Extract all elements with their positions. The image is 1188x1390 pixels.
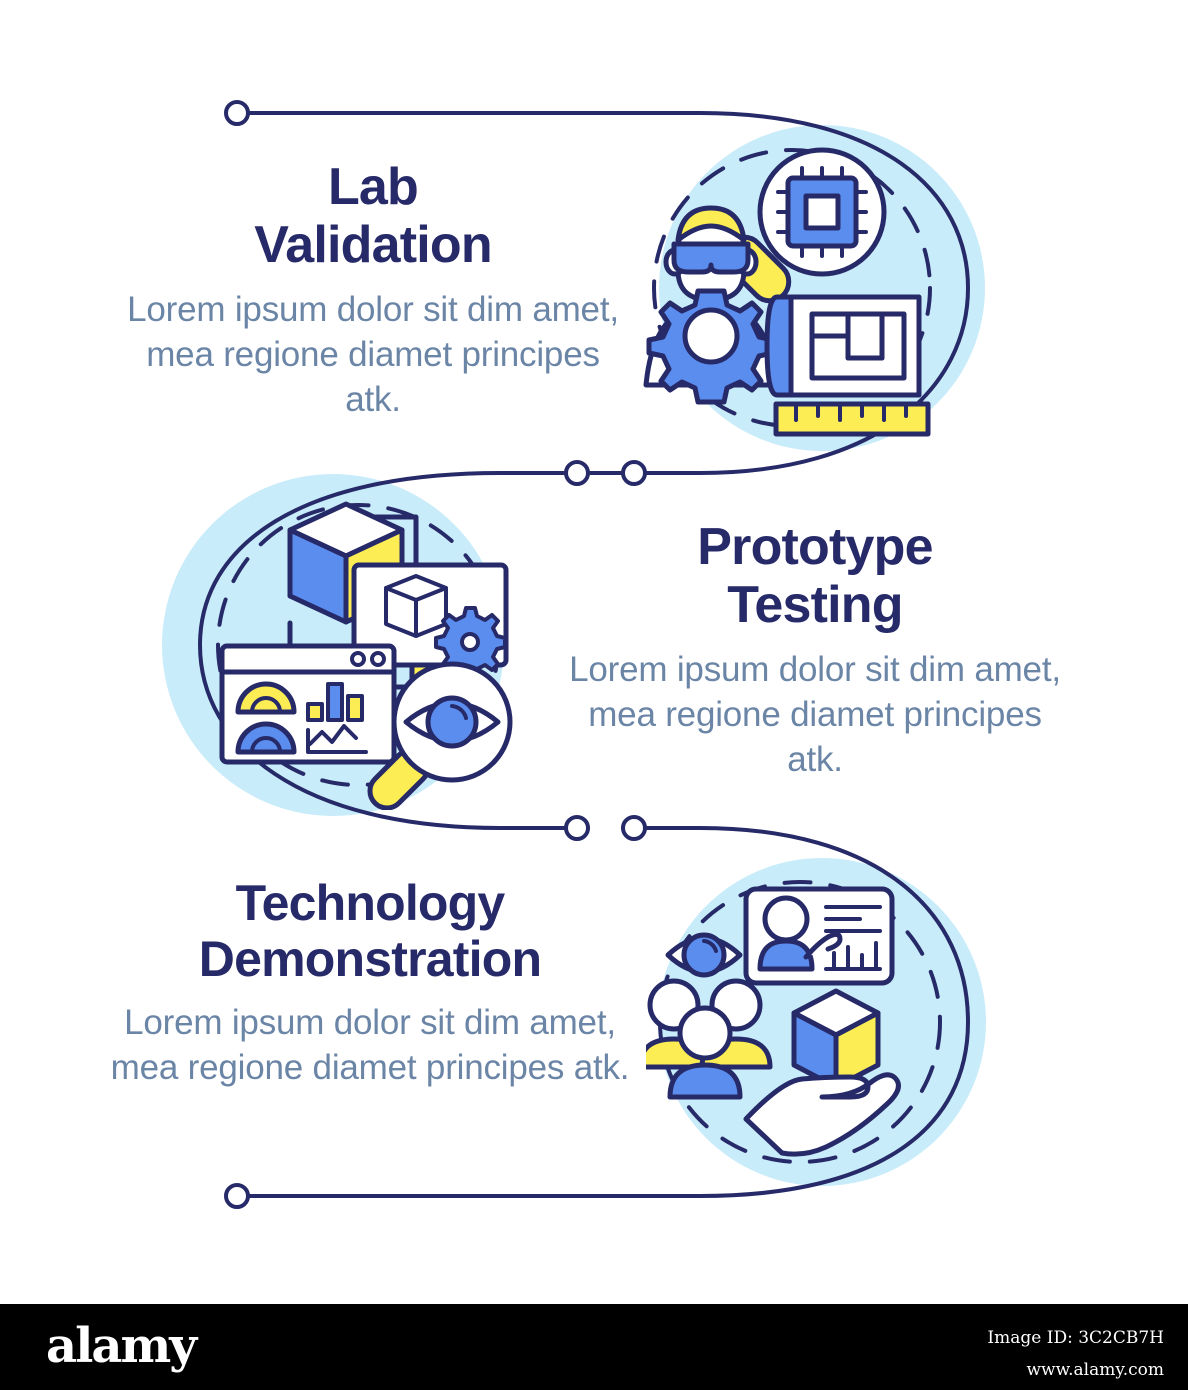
gear-icon — [649, 291, 773, 402]
engineer-with-goggles-icon — [666, 208, 756, 300]
flow-node-2-start — [623, 462, 645, 484]
page-title-technology-demonstration: Technology Demonstration — [110, 875, 630, 987]
flow-node-3-start — [623, 817, 645, 839]
flow-node-1-end — [566, 462, 588, 484]
flow-node-start — [226, 102, 248, 124]
body-text-lab-validation: Lorem ipsum dolor sit dim amet, mea regi… — [118, 288, 628, 422]
body-text-prototype-testing: Lorem ipsum dolor sit dim amet, mea regi… — [560, 648, 1070, 782]
presentation-board-icon — [746, 889, 892, 983]
body-text-technology-demonstration: Lorem ipsum dolor sit dim amet, mea regi… — [110, 1001, 630, 1091]
flow-node-end — [226, 1185, 248, 1207]
section-technology-demonstration-text: Technology Demonstration Lorem ipsum dol… — [110, 875, 630, 1091]
alamy-watermark-bar: alamy Image ID: 3C2CB7H www.alamy.com — [0, 1304, 1188, 1390]
icon-cluster-lab-validation — [636, 140, 966, 450]
analytics-dashboard-icon — [222, 646, 394, 762]
page-title-prototype-testing: Prototype Testing — [560, 518, 1070, 634]
flow-node-2-end — [566, 817, 588, 839]
footer-metadata: Image ID: 3C2CB7H www.alamy.com — [987, 1322, 1164, 1387]
icon-cluster-prototype-testing — [190, 490, 540, 810]
website-label: www.alamy.com — [987, 1354, 1164, 1386]
page-title-lab-validation: Lab Validation — [118, 158, 628, 274]
image-id-label: Image ID: 3C2CB7H — [987, 1322, 1164, 1354]
hand-holding-cube-icon — [746, 991, 898, 1154]
icon-cluster-technology-demonstration — [646, 865, 976, 1185]
ruler-icon — [776, 404, 928, 434]
magnifier-microchip-icon — [760, 150, 884, 274]
eye-icon — [668, 935, 740, 975]
blueprint-icon — [767, 297, 919, 395]
audience-group-icon — [646, 981, 770, 1097]
alamy-logo: alamy — [46, 1322, 195, 1370]
section-lab-validation-text: Lab Validation Lorem ipsum dolor sit dim… — [118, 158, 628, 423]
section-prototype-testing-text: Prototype Testing Lorem ipsum dolor sit … — [560, 518, 1070, 783]
infographic-canvas: Lab Validation Lorem ipsum dolor sit dim… — [0, 0, 1188, 1304]
